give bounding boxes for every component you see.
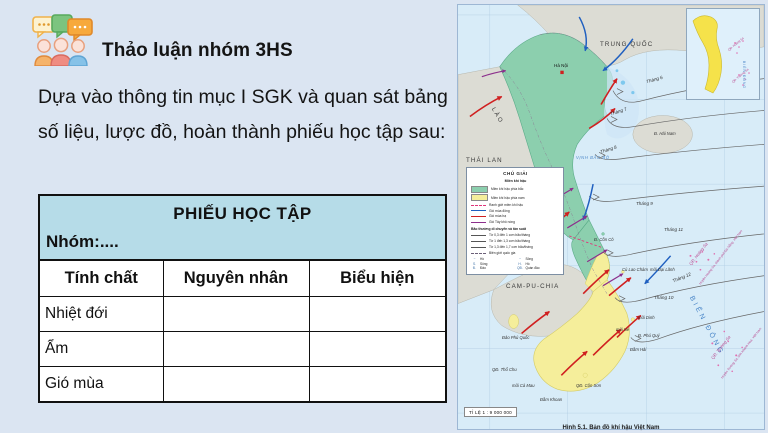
abbrev-symbol: ~ bbox=[517, 257, 524, 261]
cell-tinh-chat: Gió mùa bbox=[40, 366, 163, 401]
worksheet-card: PHIẾU HỌC TẬP Nhóm:.... Tính chất Nguyên… bbox=[38, 194, 447, 403]
activity-panel: Thảo luận nhóm 3HS Dựa vào thông tin mục… bbox=[0, 0, 455, 433]
cell-bieu-hien[interactable] bbox=[309, 331, 445, 366]
country-label-thailand: THÁI LAN bbox=[466, 157, 503, 164]
place-label-cu-lao-cham: Cù Lao Chàm bbox=[622, 267, 648, 272]
svg-text:BIỂN ĐÔNG: BIỂN ĐÔNG bbox=[742, 61, 747, 89]
abbrev-label: Hồ bbox=[480, 257, 515, 261]
place-label-dam-khoan: Đầm Khoan bbox=[540, 397, 562, 402]
abbrev-label: Đảo bbox=[480, 266, 515, 270]
country-label-china: TRUNG QUỐC bbox=[600, 41, 653, 48]
arrow-red-icon bbox=[471, 216, 486, 217]
cell-bieu-hien[interactable] bbox=[309, 366, 445, 401]
national-border-icon bbox=[471, 253, 486, 254]
cell-nguyen-nhan[interactable] bbox=[163, 366, 309, 401]
legend-storm-item: Từ 1 đến 1,3 cơn bão/tháng bbox=[471, 239, 560, 243]
cell-bieu-hien[interactable] bbox=[309, 296, 445, 331]
place-label-con-son: QĐ. Côn Sơn bbox=[576, 383, 601, 388]
legend-border-item: Biên giới quốc gia bbox=[471, 251, 560, 255]
legend-item: Gió mùa hạ bbox=[471, 214, 560, 218]
storm-frequency-1-icon bbox=[471, 235, 486, 236]
column-header-nguyen-nhan: Nguyên nhân bbox=[163, 261, 309, 296]
column-header-tinh-chat: Tính chất bbox=[40, 261, 163, 296]
abbrev-symbol: Đ. bbox=[471, 266, 478, 270]
table-row: Ẩm bbox=[40, 331, 445, 366]
cell-tinh-chat: Nhiệt đới bbox=[40, 296, 163, 331]
inset-locator-map: QĐ. Hoàng Sa QĐ. Trường Sa BIỂN ĐÔNG bbox=[686, 8, 760, 100]
activity-prompt: Dựa vào thông tin mục I SGK và quan sát … bbox=[38, 80, 450, 150]
legend-item: Gió mùa đông bbox=[471, 209, 560, 213]
legend-abbreviations: ~ Hồ ~ Sông S. Sông H. Hồ Đ. Đảo QĐ. Quầ… bbox=[471, 257, 560, 271]
place-label-tho-chu: QĐ. Thổ Chu bbox=[492, 367, 517, 372]
cell-nguyen-nhan[interactable] bbox=[163, 296, 309, 331]
storm-track-label-thang-10: Tháng 10 bbox=[654, 295, 673, 300]
legend-title: CHÚ GIẢI bbox=[471, 171, 560, 177]
legend-item: Miền khí hậu phía bắc bbox=[471, 186, 560, 193]
legend-label: Từ 0,3 đến 1 cơn bão/tháng bbox=[489, 233, 530, 237]
swatch-yellow-icon bbox=[471, 194, 488, 201]
cell-nguyen-nhan[interactable] bbox=[163, 331, 309, 366]
legend-item: Ranh giới miền khí hậu bbox=[471, 203, 560, 207]
legend-label: Biên giới quốc gia bbox=[489, 251, 515, 255]
worksheet-header: PHIẾU HỌC TẬP Nhóm:.... bbox=[40, 196, 445, 261]
place-label-phu-quoc: Đảo Phú Quốc bbox=[502, 335, 529, 340]
map-legend: CHÚ GIẢI Miền khí hậu Miền khí hậu phía … bbox=[466, 167, 564, 275]
legend-storm-section-title: Bão thường di chuyển và tần suất bbox=[471, 227, 560, 232]
legend-storm-item: Từ 0,3 đến 1 cơn bão/tháng bbox=[471, 233, 560, 237]
place-label-dai-lanh: mũi Đại Lãnh bbox=[650, 267, 675, 272]
place-label-dam-hai: Đầm Hải bbox=[630, 347, 646, 352]
storm-frequency-3-icon bbox=[471, 247, 486, 248]
column-header-bieu-hien: Biểu hiện bbox=[309, 261, 445, 296]
legend-item: Miền khí hậu phía nam bbox=[471, 194, 560, 201]
activity-heading: Thảo luận nhóm 3HS bbox=[102, 40, 293, 66]
table-row: Nhiệt đới bbox=[40, 296, 445, 331]
storm-track-label-thang-9: Tháng 9 bbox=[636, 201, 653, 206]
arrow-blue-icon bbox=[471, 210, 486, 211]
place-label-mui-ne: mũi Né bbox=[616, 327, 629, 332]
city-label-hanoi: Hà Nội bbox=[554, 63, 568, 68]
legend-label: Miền khí hậu phía bắc bbox=[491, 187, 523, 191]
legend-label: Gió mùa đông bbox=[489, 209, 510, 213]
storm-frequency-2-icon bbox=[471, 241, 486, 242]
abbrev-label: Sông bbox=[526, 257, 561, 261]
arrow-purple-icon bbox=[471, 222, 486, 223]
abbrev-label: Hồ bbox=[526, 262, 561, 266]
legend-label: Từ 1,3 đến 1,7 cơn bão/tháng bbox=[489, 245, 533, 249]
cell-tinh-chat: Ẩm bbox=[40, 331, 163, 366]
map-caption: Hình 5.1. Bản đồ khí hậu Việt Nam bbox=[457, 425, 765, 431]
abbrev-label: Quần đảo bbox=[526, 266, 561, 270]
legend-item: Gió Tây khô nóng bbox=[471, 220, 560, 224]
legend-label: Miền khí hậu phía nam bbox=[491, 196, 525, 200]
abbrev-label: Sông bbox=[480, 262, 515, 266]
legend-storm-item: Từ 1,3 đến 1,7 cơn bão/tháng bbox=[471, 245, 560, 249]
abbrev-symbol: S. bbox=[471, 262, 478, 266]
table-row: Gió mùa bbox=[40, 366, 445, 401]
legend-subtitle: Miền khí hậu bbox=[471, 179, 560, 184]
abbrev-symbol: QĐ. bbox=[517, 266, 524, 270]
place-label-ca-mau: mũi Cà Mau bbox=[512, 383, 535, 388]
worksheet-group-field[interactable]: Nhóm:.... bbox=[40, 226, 445, 257]
table-header-row: Tính chất Nguyên nhân Biểu hiện bbox=[40, 261, 445, 296]
gulf-label-tonkin: VỊNH BẮC BỘ bbox=[576, 155, 610, 160]
abbrev-symbol: ~ bbox=[471, 257, 478, 261]
legend-label: Ranh giới miền khí hậu bbox=[489, 203, 523, 207]
climate-map[interactable]: TRUNG QUỐC LÀO THÁI LAN CAM-PU-CHIA BIỂN… bbox=[457, 4, 765, 430]
legend-label: Gió Tây khô nóng bbox=[489, 220, 515, 224]
worksheet-table: Tính chất Nguyên nhân Biểu hiện Nhiệt đớ… bbox=[40, 261, 445, 401]
place-label-phu-quy: Đ. Phú Quý bbox=[638, 333, 660, 338]
map-scale: TỈ LỆ 1 : 9 000 000 bbox=[464, 407, 517, 417]
activity-heading-row: Thảo luận nhóm 3HS bbox=[30, 14, 293, 66]
place-label-con-co: Đ. Cồn Cỏ bbox=[594, 237, 614, 242]
worksheet-title: PHIẾU HỌC TẬP bbox=[40, 200, 445, 226]
group-discussion-icon bbox=[30, 14, 96, 66]
legend-label: Gió mùa hạ bbox=[489, 214, 506, 218]
place-label-mui-dinh: mũi Dinh bbox=[638, 315, 655, 320]
slide-root: Thảo luận nhóm 3HS Dựa vào thông tin mục… bbox=[0, 0, 768, 433]
swatch-green-icon bbox=[471, 186, 488, 193]
line-red-dashed-icon bbox=[471, 205, 486, 206]
storm-track-label-thang-11: Tháng 11 bbox=[664, 227, 683, 232]
place-label-hainan: Đ. Hải Nam bbox=[654, 131, 676, 136]
abbrev-symbol: H. bbox=[517, 262, 524, 266]
legend-label: Từ 1 đến 1,3 cơn bão/tháng bbox=[489, 239, 530, 243]
country-label-cambodia: CAM-PU-CHIA bbox=[506, 283, 559, 290]
